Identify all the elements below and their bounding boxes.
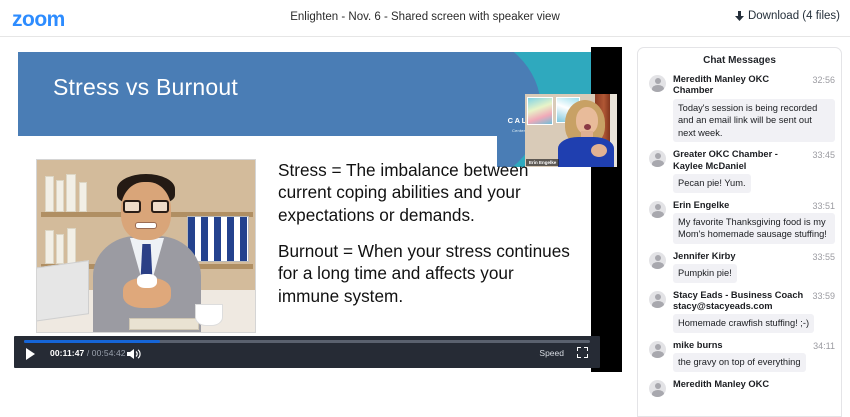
chat-sender-name: Stacy Eads - Business Coach stacy@stacye…	[673, 290, 808, 313]
chat-message-bubble: Pumpkin pie!	[673, 264, 737, 283]
avatar-icon	[649, 201, 666, 218]
chat-message-header: mike burns34:11	[673, 340, 835, 351]
slide-title: Stress vs Burnout	[53, 74, 238, 101]
chat-message-header: Stacy Eads - Business Coach stacy@stacye…	[673, 290, 835, 313]
chat-sender-name: Jennifer Kirby	[673, 251, 808, 262]
slide-paragraph-stress: Stress = The imbalance between current c…	[278, 159, 578, 226]
avatar-icon	[649, 75, 666, 92]
chat-message-header: Greater OKC Chamber - Kaylee McDaniel33:…	[673, 149, 835, 172]
chat-message-bubble: Pecan pie! Yum.	[673, 174, 751, 193]
chat-sender-name: Meredith Manley OKC	[673, 379, 831, 390]
chat-sender-name: mike burns	[673, 340, 809, 351]
chat-message: Jennifer Kirby33:55Pumpkin pie!	[646, 251, 835, 283]
download-button[interactable]: Download (4 files)	[735, 10, 840, 22]
chat-message-bubble: My favorite Thanksgiving food is my Mom'…	[673, 213, 835, 244]
shared-screen-slide: Stress vs Burnout CALM WATERS Center for…	[8, 47, 591, 372]
chat-sender-name: Erin Engelke	[673, 200, 808, 211]
volume-button[interactable]	[127, 347, 141, 365]
speaker-video-tile[interactable]: Erin Engelke	[525, 94, 617, 167]
progress-bar-fill	[24, 340, 160, 343]
download-icon	[735, 11, 744, 22]
chat-timestamp: 33:55	[812, 252, 835, 262]
slide-paragraph-burnout: Burnout = When your stress continues for…	[278, 240, 578, 307]
chat-timestamp: 34:11	[813, 341, 835, 351]
avatar-icon	[649, 341, 666, 358]
chat-message: Meredith Manley OKC Chamber32:56Today's …	[646, 74, 835, 142]
play-button[interactable]	[26, 348, 35, 360]
video-stage[interactable]: Stress vs Burnout CALM WATERS Center for…	[8, 47, 622, 372]
app-header: zoom Enlighten - Nov. 6 - Shared screen …	[0, 0, 850, 37]
avatar-icon	[649, 291, 666, 308]
chat-timestamp: 33:59	[812, 291, 835, 301]
avatar-icon	[649, 380, 666, 397]
chat-message-header: Jennifer Kirby33:55	[673, 251, 835, 262]
total-time: 00:54:42	[92, 348, 126, 358]
chat-message-bubble: Today's session is being recorded and an…	[673, 99, 835, 143]
chat-panel[interactable]: Chat Messages Meredith Manley OKC Chambe…	[637, 47, 842, 417]
speaker-name-tag: Erin Engelke	[526, 159, 559, 166]
slide-paragraph-spacer	[278, 226, 578, 240]
current-time: 00:11:47	[50, 348, 84, 358]
download-label: Download (4 files)	[748, 10, 840, 22]
chat-message: Erin Engelke33:51My favorite Thanksgivin…	[646, 200, 835, 244]
time-separator: /	[84, 348, 91, 358]
slide-body-text: Stress = The imbalance between current c…	[278, 159, 578, 307]
session-title: Enlighten - Nov. 6 - Shared screen with …	[0, 11, 850, 23]
avatar-icon	[649, 150, 666, 167]
speed-button[interactable]: Speed	[539, 348, 564, 358]
chat-message-bubble: the gravy on top of everything	[673, 353, 806, 372]
chat-message: Greater OKC Chamber - Kaylee McDaniel33:…	[646, 149, 835, 192]
chat-sender-name: Meredith Manley OKC Chamber	[673, 74, 808, 97]
time-display: 00:11:47 / 00:54:42	[50, 348, 126, 358]
chat-message-header: Meredith Manley OKC Chamber32:56	[673, 74, 835, 97]
chat-message: Meredith Manley OKC	[646, 379, 835, 390]
chat-message-list[interactable]: Meredith Manley OKC Chamber32:56Today's …	[638, 74, 842, 417]
chat-message-bubble: Homemade crawfish stuffing! ;-)	[673, 314, 814, 333]
avatar-icon	[649, 252, 666, 269]
chat-panel-title: Chat Messages	[638, 48, 841, 74]
chat-timestamp: 32:56	[812, 75, 835, 85]
stressed-businessman-photo	[36, 159, 256, 333]
fullscreen-button[interactable]	[577, 347, 588, 358]
chat-message: mike burns34:11the gravy on top of every…	[646, 340, 835, 372]
chat-message-header: Meredith Manley OKC	[673, 379, 835, 390]
wall-art-icon	[527, 97, 553, 125]
chat-timestamp: 33:45	[812, 150, 835, 160]
video-player-controls[interactable]: 00:11:47 / 00:54:42 Speed	[14, 336, 600, 368]
chat-timestamp: 33:51	[812, 201, 835, 211]
chat-message-header: Erin Engelke33:51	[673, 200, 835, 211]
volume-icon	[127, 348, 141, 360]
chat-sender-name: Greater OKC Chamber - Kaylee McDaniel	[673, 149, 808, 172]
chat-message: Stacy Eads - Business Coach stacy@stacye…	[646, 290, 835, 333]
progress-bar-track[interactable]	[24, 340, 590, 343]
